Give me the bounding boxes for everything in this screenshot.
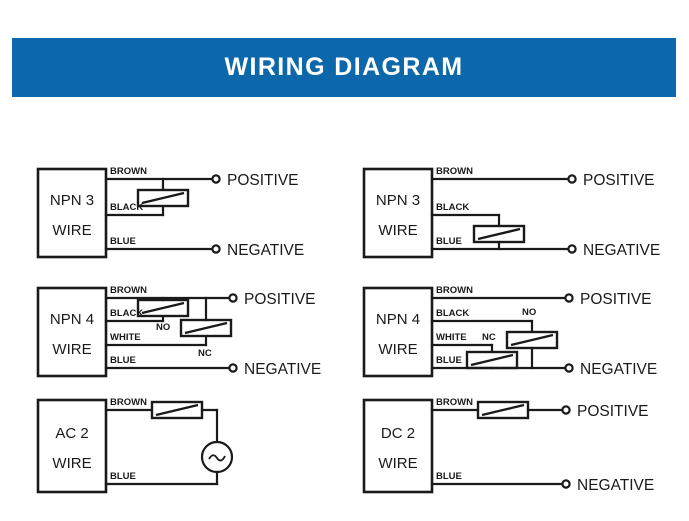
wire-label-black: BLACK	[110, 308, 143, 319]
wire-label-black: BLACK	[436, 202, 469, 213]
terminal-dot-negative	[212, 245, 219, 252]
sensor-label-line1: NPN 3	[376, 192, 420, 209]
diagram-ac-2-wire: AC 2 WIRE BROWN BLUE	[18, 388, 362, 518]
terminal-label-negative: NEGATIVE	[580, 361, 657, 378]
sensor-label-line2: WIRE	[52, 455, 91, 472]
page-title: WIRING DIAGRAM	[224, 53, 463, 82]
terminal-dot-negative	[568, 245, 575, 252]
sensor-label-line1: NPN 3	[50, 192, 94, 209]
sensor-label-line1: DC 2	[381, 425, 415, 442]
wire-label-blue: BLUE	[110, 236, 136, 247]
wire-label-brown: BROWN	[110, 397, 147, 408]
terminal-dot-negative	[565, 364, 572, 371]
terminal-dot-positive	[568, 175, 575, 182]
wire-label-blue: BLUE	[436, 355, 462, 366]
contact-label-nc: NC	[482, 332, 496, 343]
wire-label-brown: BROWN	[110, 285, 147, 296]
sensor-label-line2: WIRE	[52, 341, 91, 358]
terminal-label-positive: POSITIVE	[580, 291, 652, 308]
wire-label-blue: BLUE	[436, 236, 462, 247]
wire-label-blue: BLUE	[436, 471, 462, 482]
terminal-label-negative: NEGATIVE	[227, 242, 304, 259]
wire-label-white: WHITE	[436, 332, 467, 343]
wire-label-brown: BROWN	[436, 166, 473, 177]
terminal-label-negative: NEGATIVE	[583, 242, 660, 259]
wire-label-white: WHITE	[110, 332, 141, 343]
sensor-body	[364, 400, 432, 492]
sensor-body	[364, 169, 432, 257]
wiring-diagram-banner: WIRING DIAGRAM	[12, 38, 676, 97]
diagram-npn-3-wire-negative-load: NPN 3 WIRE BROWN BLACK BLUE POSITIVE NEG…	[344, 132, 688, 262]
sensor-label-line1: NPN 4	[50, 311, 94, 328]
terminal-dot-negative	[562, 480, 569, 487]
terminal-label-negative: NEGATIVE	[244, 361, 321, 378]
sensor-body	[38, 288, 106, 376]
sensor-body	[364, 288, 432, 376]
terminal-label-negative: NEGATIVE	[577, 477, 654, 494]
terminal-dot-positive	[565, 294, 572, 301]
sensor-body	[38, 169, 106, 257]
wire-label-black: BLACK	[436, 308, 469, 319]
contact-label-no: NO	[522, 307, 536, 318]
sensor-label-line1: NPN 4	[376, 311, 420, 328]
diagram-npn-4-wire-positive-load: NPN 4 WIRE BROWN BLACK WHITE BLUE	[18, 264, 362, 394]
wire-label-brown: BROWN	[436, 285, 473, 296]
diagram-npn-3-wire-positive-load: NPN 3 WIRE BROWN BLACK BLUE POSITIVE NEG…	[18, 132, 362, 262]
sensor-label-line2: WIRE	[378, 341, 417, 358]
terminal-dot-positive	[562, 406, 569, 413]
terminal-label-positive: POSITIVE	[244, 291, 316, 308]
wire-label-blue: BLUE	[110, 355, 136, 366]
wire-label-brown: BROWN	[436, 397, 473, 408]
contact-label-nc: NC	[198, 348, 212, 359]
terminal-dot-negative	[229, 364, 236, 371]
contact-label-no: NO	[156, 322, 170, 333]
diagram-npn-4-wire-negative-load: NPN 4 WIRE BROWN BLACK WHITE BLUE NO	[344, 264, 688, 394]
diagram-grid: NPN 3 WIRE BROWN BLACK BLUE POSITIVE NEG…	[0, 120, 689, 521]
terminal-dot-positive	[212, 175, 219, 182]
terminal-label-positive: POSITIVE	[577, 403, 649, 420]
wire-label-brown: BROWN	[110, 166, 147, 177]
terminal-dot-positive	[229, 294, 236, 301]
wire-label-blue: BLUE	[110, 471, 136, 482]
sensor-body	[38, 400, 106, 492]
terminal-label-positive: POSITIVE	[583, 172, 655, 189]
sensor-label-line2: WIRE	[378, 455, 417, 472]
sensor-label-line2: WIRE	[378, 222, 417, 239]
sensor-label-line2: WIRE	[52, 222, 91, 239]
wire-label-black: BLACK	[110, 202, 143, 213]
terminal-label-positive: POSITIVE	[227, 172, 299, 189]
sensor-label-line1: AC 2	[55, 425, 88, 442]
diagram-dc-2-wire: DC 2 WIRE BROWN BLUE POSITIVE NEGATIVE	[344, 388, 688, 518]
